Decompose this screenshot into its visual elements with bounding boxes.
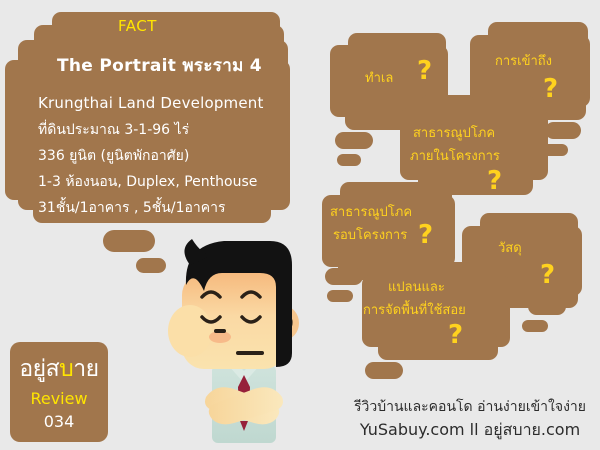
bubble-accessibility-question-mark: ? bbox=[543, 76, 558, 102]
bubble-floorplan-label-line2: การจัดพื้นที่ใช้สอย bbox=[363, 299, 466, 320]
bubble-floorplan-question-mark: ? bbox=[448, 322, 463, 348]
bubble-facilities-inside-label-line2: ภายในโครงการ bbox=[410, 145, 500, 166]
brand-highlight: บ bbox=[59, 356, 73, 382]
bubble-materials-tail-dot-large bbox=[528, 298, 566, 315]
bubble-materials-label: วัสดุ bbox=[498, 237, 522, 258]
bubble-facilities-nearby-question-mark: ? bbox=[418, 222, 433, 248]
brand-prefix: อยู่ส bbox=[19, 356, 59, 382]
fact-detail-floors: 31ชั้น/1อาคาร , 5ชั้น/1อาคาร bbox=[38, 197, 226, 219]
fact-card: FACT The Portrait พระราม 4 Krungthai Lan… bbox=[0, 0, 320, 245]
bubble-floorplan-foot bbox=[378, 332, 498, 360]
bubble-facilities-inside-question-mark: ? bbox=[487, 168, 502, 194]
review-label: Review bbox=[10, 389, 108, 408]
character-nose bbox=[214, 329, 226, 333]
bubble-floorplan-tail-dot-large bbox=[365, 362, 403, 379]
bubble-facilities-nearby-label-line2: รอบโครงการ bbox=[333, 224, 407, 245]
bubble-location-tail-dot-small bbox=[337, 154, 361, 166]
brand-logo-name: อยู่สบาย bbox=[10, 351, 108, 387]
fact-detail-units: 336 ยูนิต (ยูนิตพักอาศัย) bbox=[38, 145, 189, 167]
fact-detail-rooms: 1-3 ห้องนอน, Duplex, Penthouse bbox=[38, 171, 257, 193]
brand-logo[interactable]: อยู่สบาย Review 034 bbox=[10, 342, 108, 442]
project-name: The Portrait พระราม 4 bbox=[57, 52, 262, 79]
bubble-facilities-nearby-label-line1: สาธารณูปโภค bbox=[330, 201, 412, 222]
bubble-accessibility-label: การเข้าถึง bbox=[495, 50, 552, 71]
bubble-materials-question-mark: ? bbox=[540, 262, 555, 288]
fact-badge: FACT bbox=[118, 17, 157, 35]
brand-suffix: าย bbox=[73, 356, 98, 382]
footer-tagline: รีวิวบ้านและคอนโด อ่านง่ายเข้าใจง่าย bbox=[345, 396, 595, 418]
review-number: 034 bbox=[10, 412, 108, 431]
fact-detail-land: ที่ดินประมาณ 3-1-96 ไร่ bbox=[38, 119, 189, 141]
fact-card-tail-dot-large bbox=[103, 230, 155, 252]
bubble-facilities-inside-label-line1: สาธารณูปโภค bbox=[413, 122, 495, 143]
bubble-location-question-mark: ? bbox=[417, 58, 432, 84]
bubble-location-label: ทำเล bbox=[365, 67, 393, 88]
character-mouth bbox=[236, 351, 264, 355]
bubble-materials-tail-dot-small bbox=[522, 320, 548, 332]
footer-website[interactable]: YuSabuy.com ll อยู่สบาย.com bbox=[345, 418, 595, 443]
poster-canvas: FACT The Portrait พระราม 4 Krungthai Lan… bbox=[0, 0, 600, 450]
developer-name: Krungthai Land Development bbox=[38, 94, 264, 112]
mascot-character bbox=[150, 225, 335, 450]
bubble-accessibility-tail-dot-large bbox=[545, 122, 581, 139]
bubble-floorplan-label-line1: แปลนและ bbox=[388, 276, 445, 297]
character-cheek-left bbox=[168, 305, 212, 357]
bubble-location-tail-dot-large bbox=[335, 132, 373, 149]
